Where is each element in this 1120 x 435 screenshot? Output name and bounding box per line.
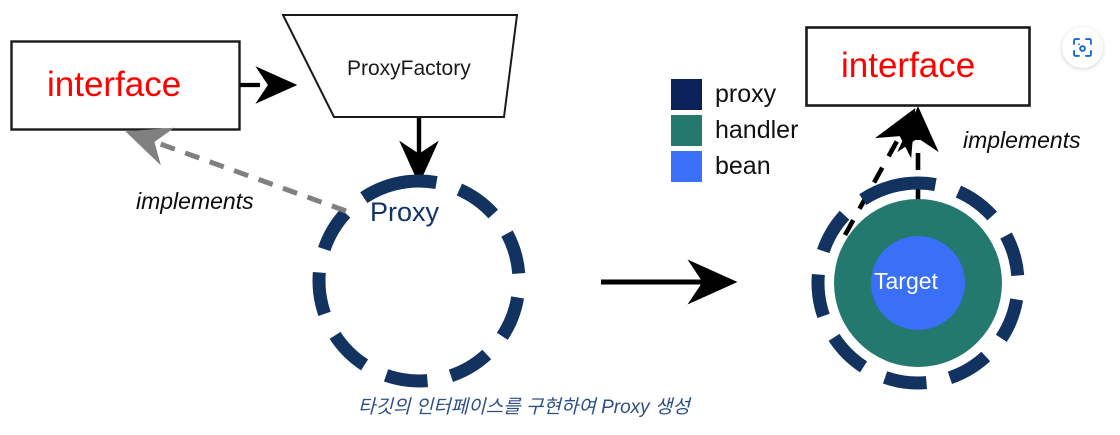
target-label: Target bbox=[874, 270, 938, 293]
legend-label-bean: bean bbox=[715, 154, 771, 179]
legend-swatch-handler bbox=[671, 115, 702, 146]
diagram-canvas: interface interface ProxyFactory Proxy T… bbox=[0, 0, 1120, 435]
scan-lens-button[interactable] bbox=[1062, 27, 1103, 68]
scan-lens-icon bbox=[1071, 36, 1094, 59]
interface-right-label: interface bbox=[841, 48, 975, 83]
legend-label-proxy: proxy bbox=[715, 82, 776, 107]
proxy-label: Proxy bbox=[370, 199, 439, 226]
proxyfactory-label: ProxyFactory bbox=[347, 58, 471, 79]
legend-swatch-proxy bbox=[671, 79, 702, 110]
legend-swatch-bean bbox=[671, 151, 702, 182]
implements-right-label: implements bbox=[963, 129, 1081, 152]
legend-label-handler: handler bbox=[715, 118, 798, 143]
legend-item-bean: bean bbox=[671, 148, 798, 184]
interface-left-label: interface bbox=[47, 67, 181, 102]
implements-left-label: implements bbox=[136, 190, 254, 213]
legend: proxy handler bean bbox=[671, 76, 798, 184]
diagram-caption: 타깃의 인터페이스를 구현하여 Proxy 생성 bbox=[358, 398, 690, 417]
legend-item-handler: handler bbox=[671, 112, 798, 148]
legend-item-proxy: proxy bbox=[671, 76, 798, 112]
